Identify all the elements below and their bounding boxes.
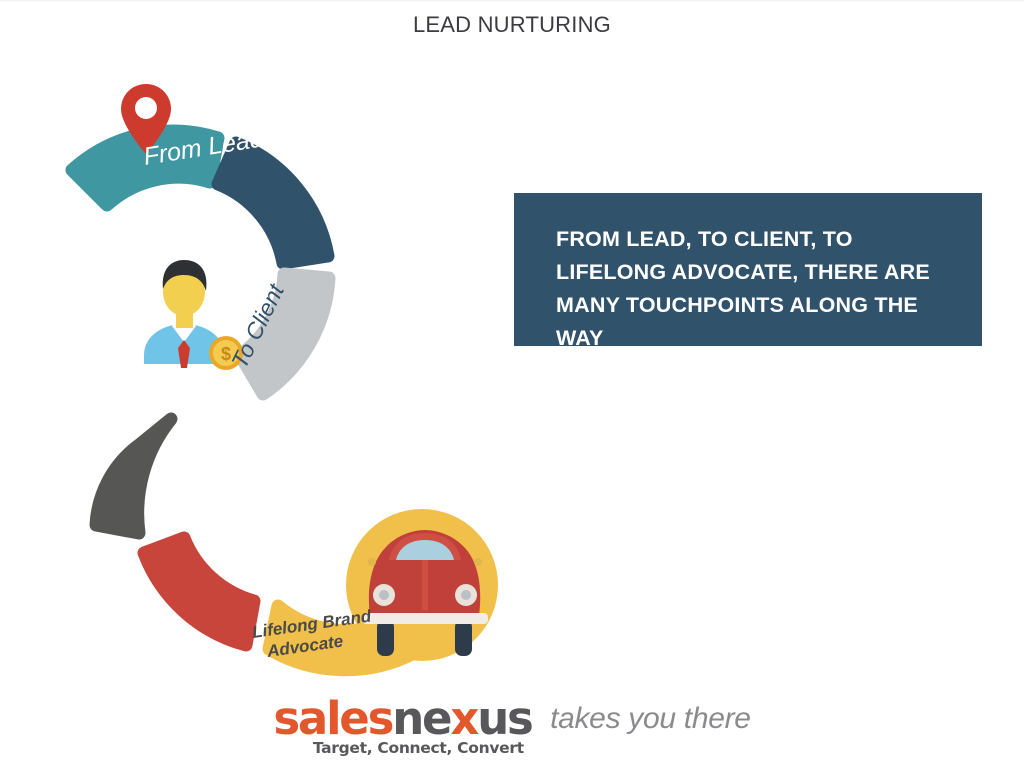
logo-us-text: us bbox=[477, 692, 531, 745]
wheel-segment-dark-gray[interactable] bbox=[96, 419, 171, 533]
logo-ne-text: ne bbox=[392, 692, 450, 745]
logo-sales-text: sales bbox=[273, 692, 392, 745]
logo-tagline: Target, Connect, Convert bbox=[303, 739, 533, 757]
wheel-segment-navy[interactable] bbox=[218, 143, 328, 263]
businessman-with-coin-icon: $ bbox=[144, 260, 243, 370]
callout-box: FROM LEAD, TO CLIENT, TO LIFELONG ADVOCA… bbox=[514, 193, 982, 346]
lead-nurturing-wheel: $ From Lead To Client Lifelong Brand Adv… bbox=[40, 60, 540, 685]
logo-slogan: takes you there bbox=[550, 702, 751, 736]
logo-x-text: x bbox=[450, 692, 477, 745]
callout-text: FROM LEAD, TO CLIENT, TO LIFELONG ADVOCA… bbox=[556, 223, 948, 355]
slide-canvas: LEAD NURTURING bbox=[0, 0, 1024, 779]
salesnexus-logo[interactable]: salesnexus Target, Connect, Convert take… bbox=[0, 696, 1024, 742]
wheel-segment-red[interactable] bbox=[144, 538, 254, 645]
page-title: LEAD NURTURING bbox=[0, 12, 1024, 38]
top-divider bbox=[0, 0, 1024, 2]
logo-wordmark: salesnexus Target, Connect, Convert bbox=[273, 696, 531, 742]
